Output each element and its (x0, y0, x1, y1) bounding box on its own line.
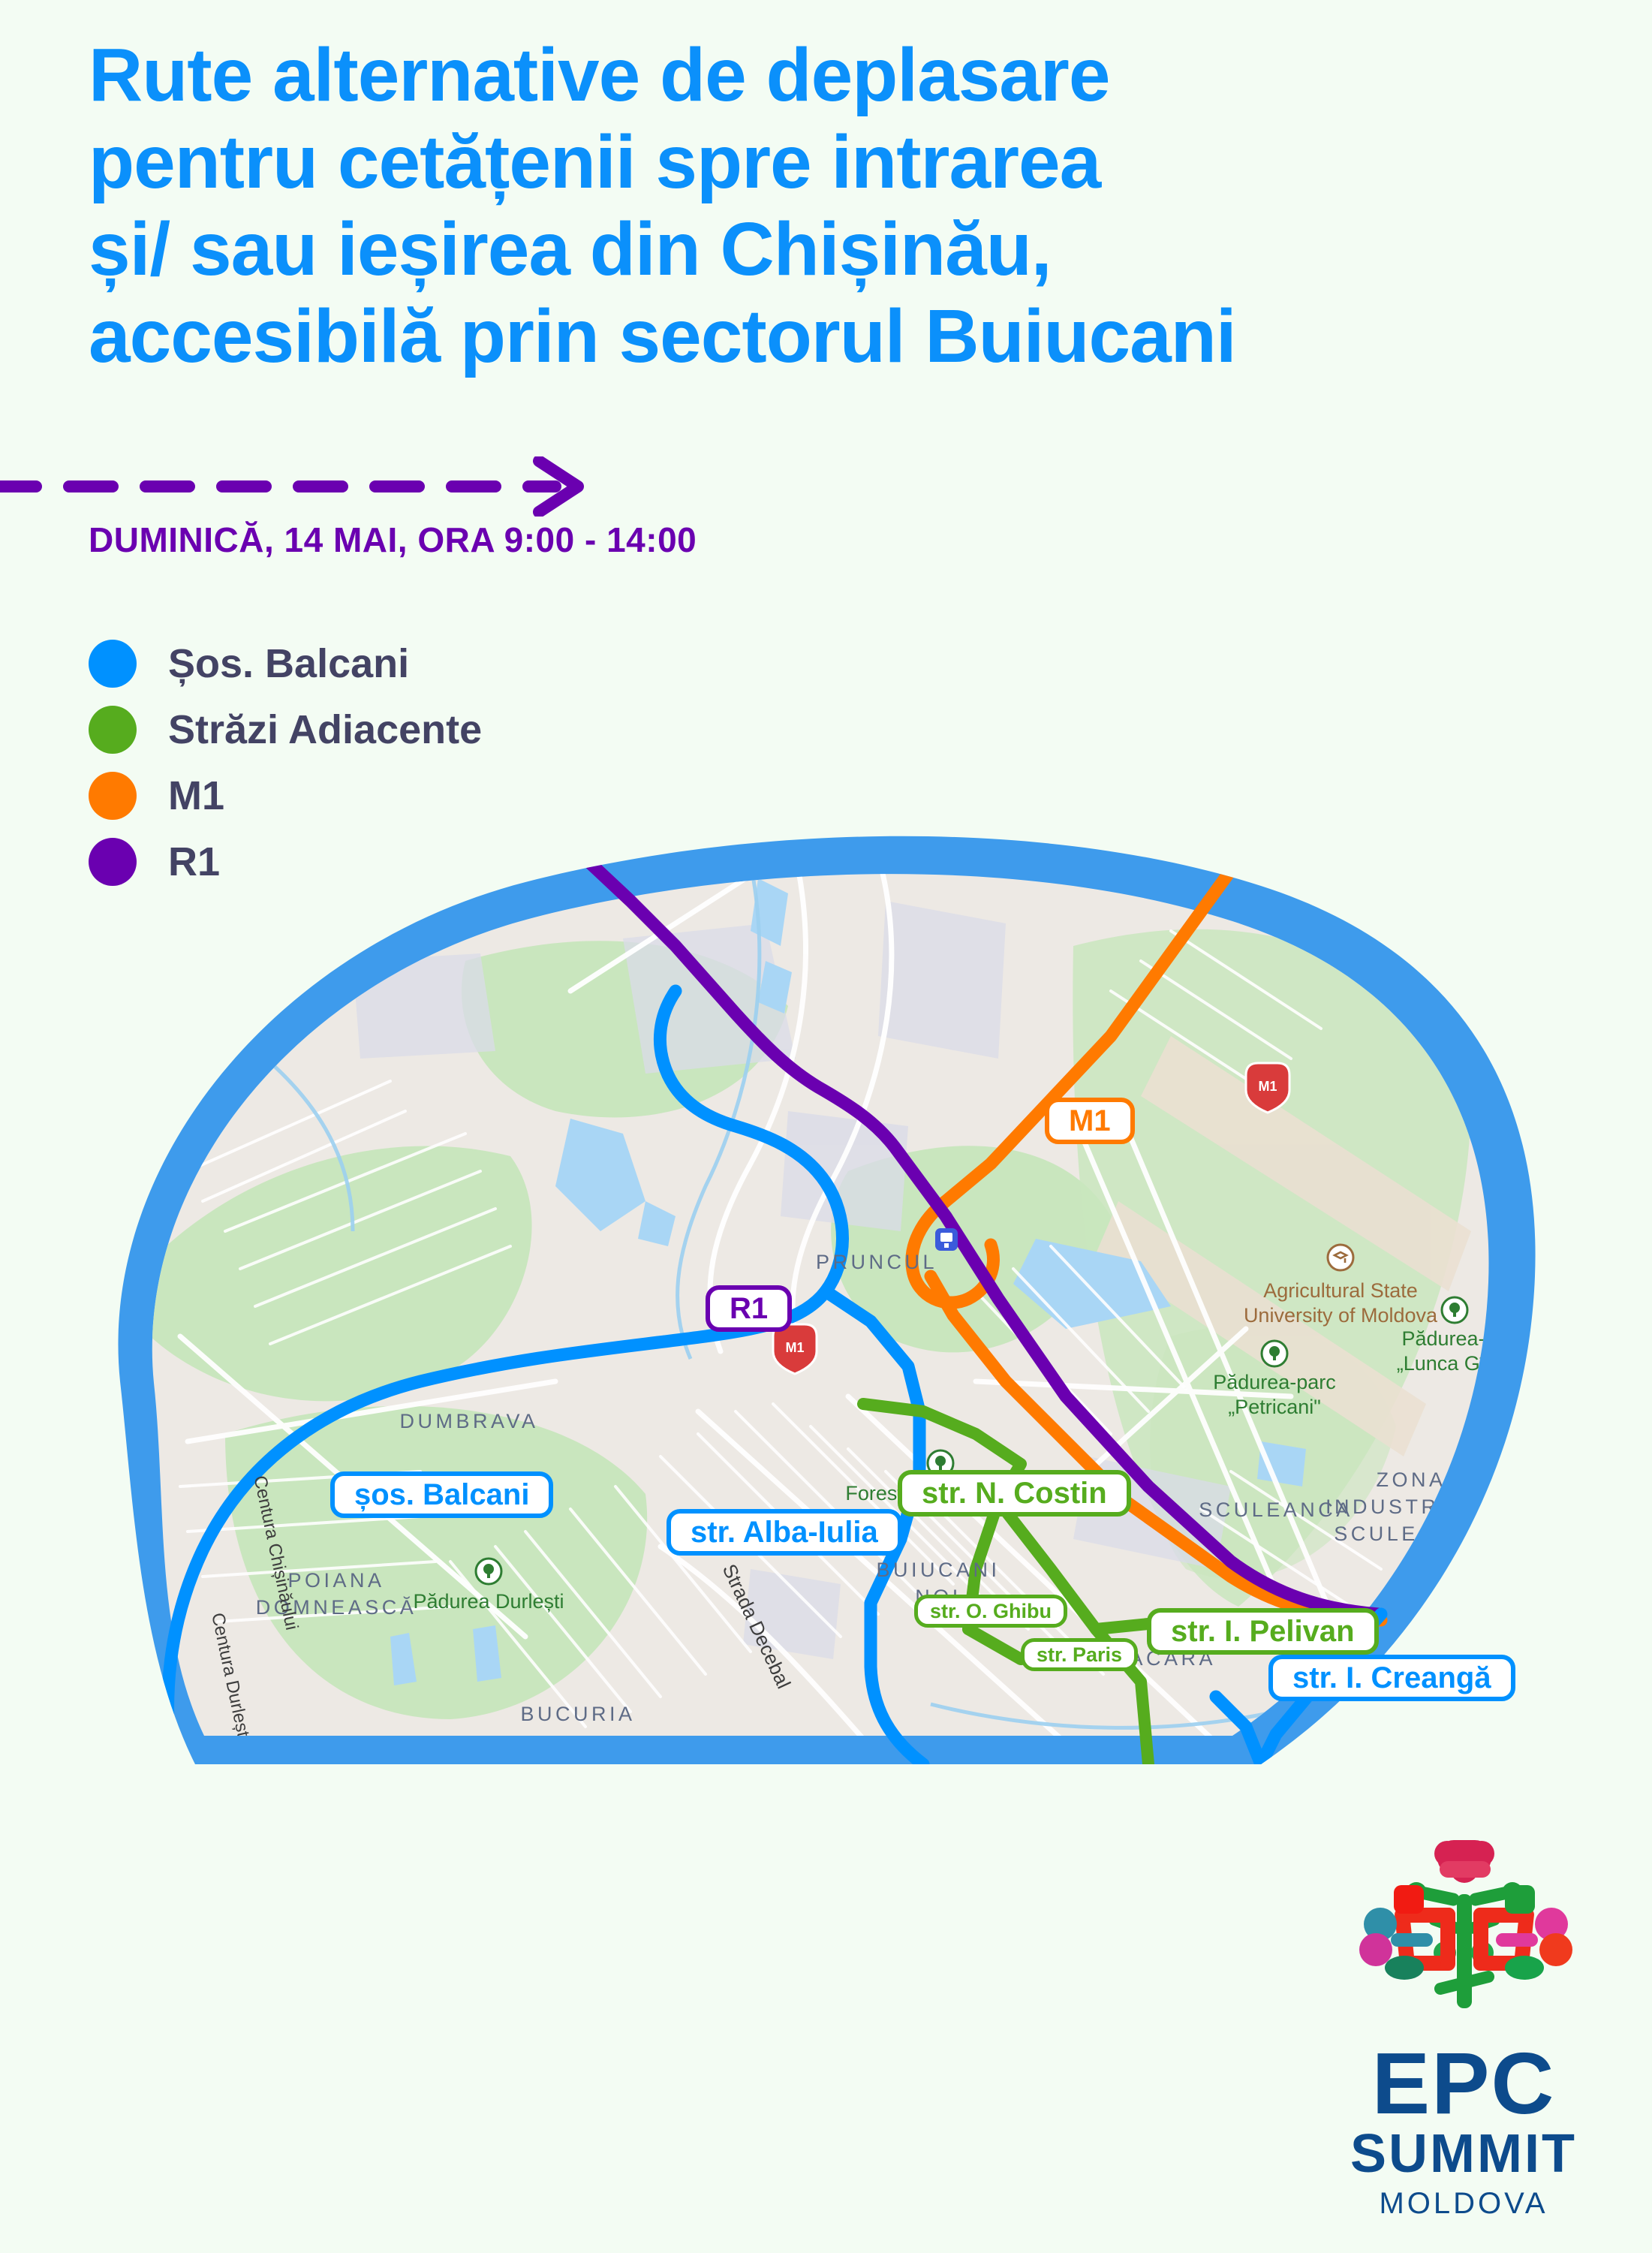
poi-label-university-1: Agricultural State (1263, 1279, 1418, 1302)
epc-summit-logo: EPC SUMMIT MOLDOVA (1302, 1836, 1625, 2226)
dashed-arrow-right-icon (0, 456, 615, 517)
i-creanga-callout[interactable]: str. I. Creangă (1268, 1655, 1515, 1701)
place-label-pruncul: PRUNCUL (816, 1251, 937, 1273)
logo-text-summit: SUMMIT (1302, 2127, 1625, 2181)
place-label-poiana-1: POIANA (287, 1569, 384, 1592)
paris-callout[interactable]: str. Paris (1021, 1638, 1138, 1671)
i-pelivan-callout[interactable]: str. I. Pelivan (1147, 1608, 1379, 1655)
logo-text-epc: EPC (1302, 2040, 1625, 2127)
alba-iulia-callout[interactable]: str. Alba-Iulia (667, 1509, 902, 1556)
place-label-zona-1: ZONA (1376, 1468, 1446, 1491)
title-line-1: Rute alternative de deplasare (89, 32, 1552, 119)
svg-text:M1: M1 (1258, 1079, 1277, 1094)
place-label-bucuria: BUCURIA (520, 1703, 635, 1725)
sos-balcani-callout[interactable]: șos. Balcani (330, 1471, 553, 1518)
place-label-buiucani-1: BUIUCANI (876, 1559, 1000, 1581)
o-ghibu-callout[interactable]: str. O. Ghibu (914, 1595, 1067, 1628)
poi-label-petricani-2: „Petricani" (1228, 1396, 1321, 1418)
n-costin-callout[interactable]: str. N. Costin (898, 1470, 1131, 1517)
poi-label-university-2: University of Moldova (1244, 1304, 1438, 1327)
header: Rute alternative de deplasare pentru cet… (0, 0, 1652, 616)
m1-callout[interactable]: M1 (1045, 1098, 1135, 1144)
legend-label: Străzi Adiacente (168, 706, 482, 753)
legend-color-swatch-icon (89, 706, 137, 754)
legend-item-sos-balcani: Șos. Balcani (89, 631, 704, 697)
map-canvas[interactable]: PRUNCUL DUMBRAVA POIANA DOMNEASCĂ BUCURI… (0, 811, 1652, 1922)
title-line-2: pentru cetățenii spre intrarea (89, 119, 1552, 206)
event-datetime: DUMINICĂ, 14 MAI, ORA 9:00 - 14:00 (89, 520, 697, 560)
title-line-3: și/ sau ieșirea din Chișinău, (89, 206, 1552, 293)
logo-text-moldova: MOLDOVA (1302, 2188, 1625, 2218)
route-map[interactable]: PRUNCUL DUMBRAVA POIANA DOMNEASCĂ BUCURI… (0, 811, 1652, 1922)
poi-label-petricani-1: Pădurea-parc (1213, 1371, 1336, 1393)
legend-item-strazi-adiacente: Străzi Adiacente (89, 697, 704, 763)
svg-text:M1: M1 (785, 1340, 804, 1355)
page-title: Rute alternative de deplasare pentru cet… (89, 32, 1552, 380)
train-station-icon (935, 1228, 958, 1251)
legend-label: Șos. Balcani (168, 640, 409, 687)
r1-callout[interactable]: R1 (706, 1285, 792, 1332)
place-label-dumbrava: DUMBRAVA (399, 1410, 538, 1432)
moldova-tree-of-life-icon (1302, 1836, 1625, 2038)
poi-label-durlesti: Pădurea Durlești (413, 1590, 564, 1613)
legend-color-swatch-icon (89, 640, 137, 688)
title-line-4: accesibilă prin sectorul Buiucani (89, 293, 1552, 380)
